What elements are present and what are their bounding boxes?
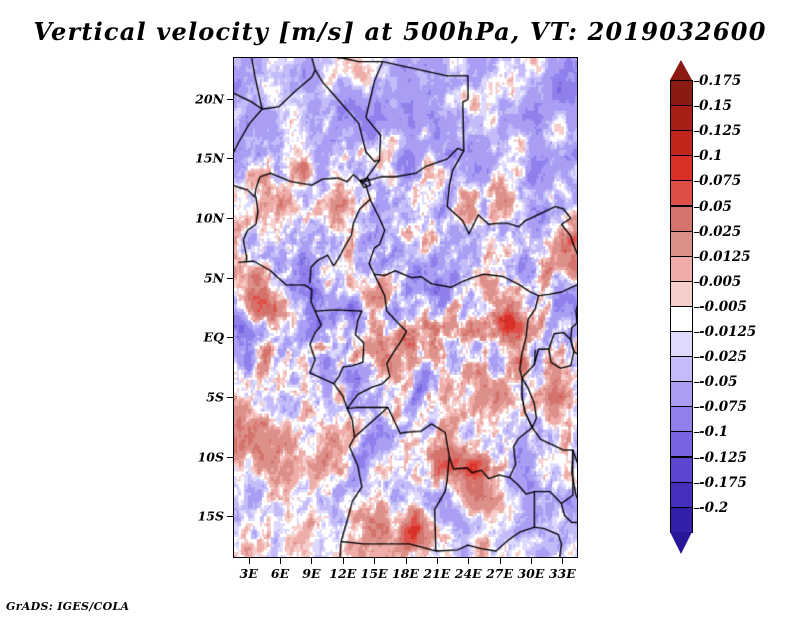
- x-axis-label: 15E: [361, 566, 388, 581]
- grads-plot-page: Vertical velocity [m/s] at 500hPa, VT: 2…: [0, 0, 800, 618]
- colorbar-label: -0.175: [699, 475, 747, 491]
- y-axis-tick: [227, 99, 233, 100]
- colorbar-block: [670, 431, 693, 457]
- colorbar-label: -0.1: [699, 424, 728, 440]
- y-axis-tick: [227, 278, 233, 279]
- x-axis-tick: [249, 558, 250, 564]
- x-axis-tick: [562, 558, 563, 564]
- x-axis-label: 21E: [423, 566, 450, 581]
- colorbar-block: [670, 80, 693, 106]
- x-axis-label: 24E: [455, 566, 482, 581]
- x-axis-tick: [437, 558, 438, 564]
- colorbar-label: 0.05: [699, 199, 732, 215]
- colorbar-label: -0.005: [699, 299, 747, 315]
- y-axis-label: 15N: [193, 151, 224, 166]
- y-axis-tick: [227, 218, 233, 219]
- colorbar-label: 0.0125: [699, 249, 751, 265]
- y-axis-tick: [227, 516, 233, 517]
- y-axis-tick: [227, 457, 233, 458]
- colorbar-label: -0.125: [699, 450, 747, 466]
- x-axis-label: 6E: [271, 566, 289, 581]
- colorbar-label: -0.2: [699, 500, 728, 516]
- y-axis-label: 5N: [193, 270, 224, 285]
- y-axis-label: 10N: [193, 211, 224, 226]
- colorbar-block: [670, 381, 693, 407]
- x-axis-tick: [468, 558, 469, 564]
- x-axis-label: 12E: [329, 566, 356, 581]
- colorbar-block: [670, 482, 693, 508]
- x-axis-label: 33E: [549, 566, 576, 581]
- colorbar-label: 0.1: [699, 148, 723, 164]
- x-axis-tick: [343, 558, 344, 564]
- x-axis-label: 30E: [517, 566, 544, 581]
- y-axis-label: EQ: [193, 330, 224, 345]
- colorbar-label: -0.05: [699, 374, 737, 390]
- y-axis-tick: [227, 337, 233, 338]
- colorbar-block: [670, 331, 693, 357]
- y-axis-label: 15S: [193, 509, 224, 524]
- colorbar-block: [670, 105, 693, 131]
- colorbar-max-arrow: [670, 60, 692, 80]
- colorbar-label: -0.0125: [699, 324, 756, 340]
- colorbar-block: [670, 356, 693, 382]
- colorbar-min-arrow: [670, 532, 692, 554]
- colorbar-block: [670, 231, 693, 257]
- y-axis-label: 20N: [193, 91, 224, 106]
- colorbar-block: [670, 206, 693, 232]
- colorbar-block: [670, 180, 693, 206]
- colorbar-block: [670, 155, 693, 181]
- x-axis-label: 3E: [240, 566, 258, 581]
- colorbar-label: 0.075: [699, 173, 741, 189]
- colorbar-label: -0.025: [699, 349, 747, 365]
- country-borders-overlay: [234, 58, 577, 557]
- x-axis-tick: [406, 558, 407, 564]
- y-axis-label: 10S: [193, 449, 224, 464]
- x-axis-label: 9E: [302, 566, 320, 581]
- colorbar-block: [670, 406, 693, 432]
- grads-credit: GrADS: IGES/COLA: [6, 600, 129, 613]
- y-axis-tick: [227, 158, 233, 159]
- colorbar-label: -0.075: [699, 399, 747, 415]
- colorbar-block: [670, 507, 693, 533]
- page-title: Vertical velocity [m/s] at 500hPa, VT: 2…: [0, 17, 800, 46]
- colorbar-label: 0.005: [699, 274, 741, 290]
- y-axis-label: 5S: [193, 389, 224, 404]
- colorbar-block: [670, 306, 693, 332]
- colorbar-block: [670, 256, 693, 282]
- x-axis-tick: [374, 558, 375, 564]
- colorbar-label: 0.025: [699, 224, 741, 240]
- colorbar-label: 0.15: [699, 98, 732, 114]
- x-axis-tick: [280, 558, 281, 564]
- x-axis-tick: [531, 558, 532, 564]
- x-axis-tick: [500, 558, 501, 564]
- x-axis-tick: [311, 558, 312, 564]
- colorbar-label: 0.125: [699, 123, 741, 139]
- colorbar-label: 0.175: [699, 73, 741, 89]
- colorbar-block: [670, 281, 693, 307]
- x-axis-label: 27E: [486, 566, 513, 581]
- colorbar-block: [670, 130, 693, 156]
- colorbar-block: [670, 457, 693, 483]
- x-axis-label: 18E: [392, 566, 419, 581]
- y-axis-tick: [227, 397, 233, 398]
- map-plot-area: [233, 57, 578, 558]
